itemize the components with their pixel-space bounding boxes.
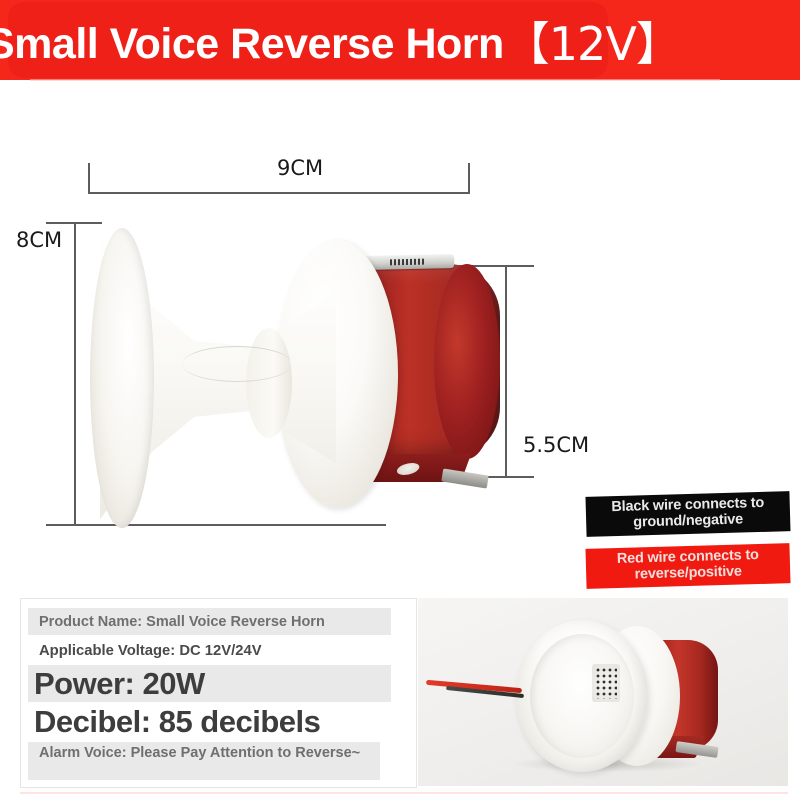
spec-row-applicable-voltage: Applicable Voltage: DC 12V/24V	[28, 637, 391, 664]
horn-seam-line	[182, 346, 292, 382]
spec-row-power-value: Power: 20W	[34, 666, 205, 702]
horn-mouth-opening	[90, 228, 154, 528]
banner-underline-divider	[30, 79, 720, 81]
dimension-label-depth: 5.5CM	[523, 433, 589, 457]
spec-panel: Product Name: Small Voice Reverse Horn A…	[20, 598, 417, 788]
header-banner: Small Voice Reverse Horn 【12V】	[0, 0, 800, 80]
dimension-label-width: 9CM	[277, 156, 323, 180]
horn-throat	[246, 328, 292, 438]
horn-spec-sticker	[364, 254, 454, 270]
dimension-line-height	[74, 222, 76, 526]
header-text-group: Small Voice Reverse Horn 【12V】	[0, 14, 800, 74]
spec-row-alarm-voice: Alarm Voice: Please Pay Attention to Rev…	[28, 742, 380, 780]
page-title: Small Voice Reverse Horn	[0, 23, 504, 66]
photo-wire-leads	[426, 684, 522, 700]
horn-body-end-cap	[434, 264, 500, 459]
bracket-mounting-hole	[394, 463, 423, 475]
photo-speaker-grille	[592, 664, 620, 702]
dimension-tick-width-left	[88, 163, 90, 193]
photo-horn-cone	[516, 620, 648, 772]
spec-row-decibel: Decibel: 85 decibels	[28, 703, 391, 740]
callout-black-wire: Black wire connects to ground/negative	[585, 491, 790, 537]
product-main-image	[96, 228, 486, 538]
bottom-divider	[20, 792, 788, 794]
dimension-tick-height-top	[46, 222, 102, 224]
voltage-badge: 【12V】	[504, 21, 681, 67]
product-front-photo	[418, 598, 788, 786]
callout-red-wire: Red wire connects to reverse/positive	[585, 543, 790, 589]
dimension-tick-width-right	[468, 163, 470, 193]
dimension-label-height: 8CM	[16, 228, 62, 252]
dimension-line-width	[88, 192, 470, 194]
spec-row-power: Power: 20W	[28, 665, 391, 702]
dimension-line-depth	[505, 265, 507, 477]
bracket-metal-foot	[441, 468, 488, 488]
spec-row-product-name: Product Name: Small Voice Reverse Horn	[28, 608, 391, 635]
product-listing-image: Small Voice Reverse Horn 【12V】 9CM 8CM 5…	[0, 0, 800, 800]
spec-row-decibel-value: Decibel: 85 decibels	[34, 704, 320, 740]
